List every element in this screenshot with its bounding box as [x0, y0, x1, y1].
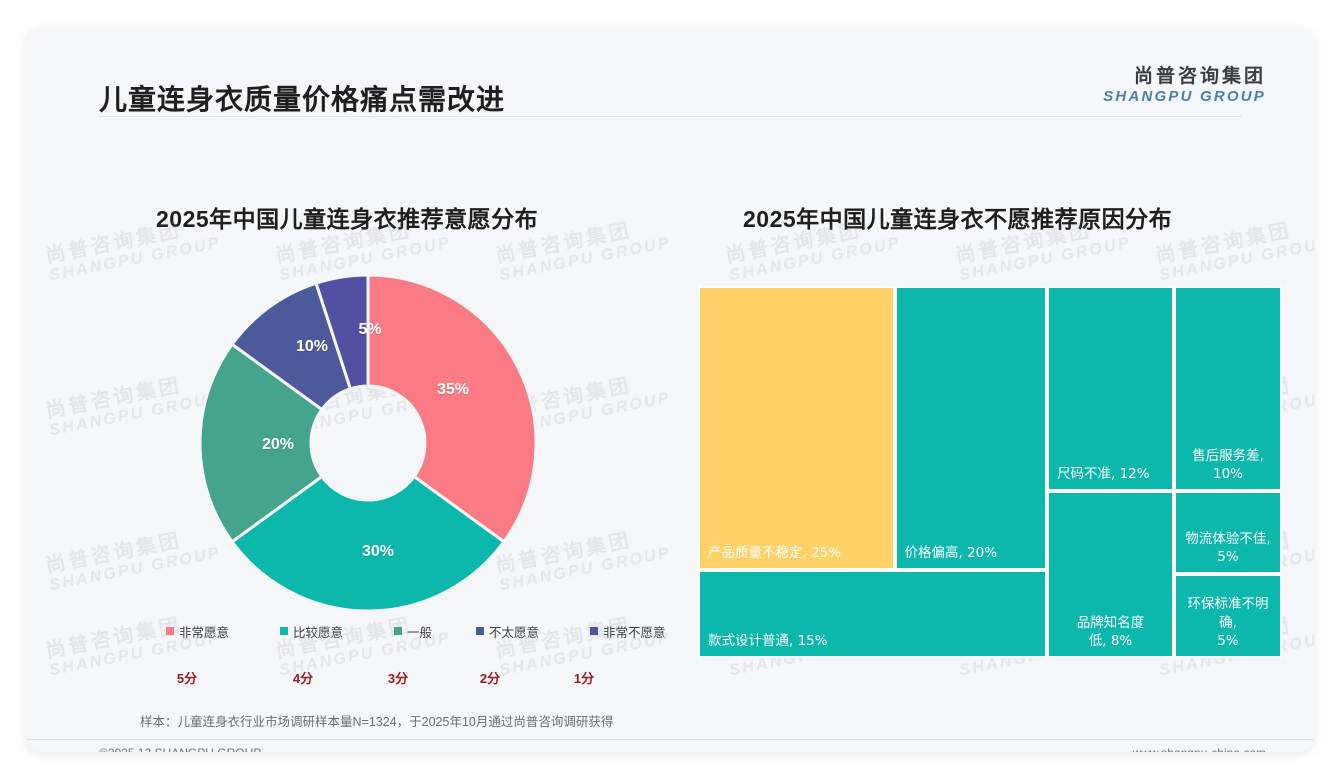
legend-label: 一般 [407, 622, 432, 641]
legend-swatch [394, 627, 402, 635]
page-title: 儿童连身衣质量价格痛点需改进 [99, 78, 505, 118]
donut-slice-value: 20% [262, 436, 294, 454]
treemap-tile[interactable]: 尺码不准, 12% [1047, 286, 1174, 491]
score-label: 1分 [574, 668, 594, 687]
watermark-text: 尚普咨询集团SHANGPU GROUP [44, 368, 223, 440]
legend-swatch [280, 627, 288, 635]
treemap-tile[interactable]: 款式设计普通, 15% [698, 570, 1047, 658]
treemap-tile-label: 款式设计普通, 15% [708, 632, 1039, 650]
copyright-text: ©2025.12 SHANGPU GROUP [99, 746, 261, 752]
legend-item[interactable]: 非常不愿意 [590, 622, 666, 641]
treemap-tile[interactable]: 物流体验不佳,5% [1174, 491, 1282, 574]
legend-item[interactable]: 不太愿意 [476, 622, 539, 641]
legend-label: 非常不愿意 [603, 622, 666, 641]
treemap-tile[interactable]: 价格偏高, 20% [895, 286, 1048, 570]
treemap-tile[interactable]: 环保标准不明确,5% [1174, 574, 1282, 658]
score-label: 2分 [480, 668, 500, 687]
legend-label: 比较愿意 [293, 622, 343, 641]
legend-item[interactable]: 比较愿意 [280, 622, 343, 641]
legend-item[interactable]: 一般 [394, 622, 432, 641]
legend-swatch [476, 627, 484, 635]
slide-canvas: 儿童连身衣质量价格痛点需改进 尚普咨询集团 SHANGPU GROUP 尚普咨询… [26, 28, 1314, 752]
treemap-tile-label: 售后服务差,10% [1180, 447, 1276, 483]
score-label: 3分 [388, 668, 408, 687]
reasons-treemap-chart: 产品质量不稳定, 25%价格偏高, 20%款式设计普通, 15%尺码不准, 12… [698, 286, 1282, 658]
watermark-text: 尚普咨询集团SHANGPU GROUP [1154, 213, 1314, 285]
treemap-tile-label: 产品质量不稳定, 25% [708, 544, 887, 562]
treemap-tile[interactable]: 售后服务差,10% [1174, 286, 1282, 491]
donut-slice-value: 30% [362, 543, 394, 561]
treemap-tile[interactable]: 品牌知名度低, 8% [1047, 491, 1174, 658]
footer-divider [26, 739, 1314, 740]
treemap-tile-label: 尺码不准, 12% [1057, 465, 1166, 483]
logo-english-text: SHANGPU GROUP [1103, 88, 1266, 105]
header-divider [99, 116, 1242, 117]
treemap-tile-label: 物流体验不佳,5% [1180, 530, 1276, 566]
right-chart-title: 2025年中国儿童连身衣不愿推荐原因分布 [743, 200, 1172, 234]
donut-slice-value: 10% [296, 338, 328, 356]
left-chart-title: 2025年中国儿童连身衣推荐意愿分布 [156, 200, 538, 234]
treemap-tile[interactable]: 产品质量不稳定, 25% [698, 286, 895, 570]
legend-swatch [166, 627, 174, 635]
donut-slice-value: 5% [358, 321, 381, 339]
legend-item[interactable]: 非常愿意 [166, 622, 229, 641]
treemap-tile-label: 价格偏高, 20% [905, 544, 1040, 562]
brand-logo: 尚普咨询集团 SHANGPU GROUP [1103, 66, 1266, 105]
legend-swatch [590, 627, 598, 635]
legend-label: 非常愿意 [179, 622, 229, 641]
recommendation-donut-chart: 35%30%20%10%5% [200, 275, 536, 611]
score-label: 5分 [177, 668, 197, 687]
donut-slice-value: 35% [437, 381, 469, 399]
watermark-text: 尚普咨询集团SHANGPU GROUP [44, 523, 223, 595]
legend-label: 不太愿意 [489, 622, 539, 641]
score-label: 4分 [293, 668, 313, 687]
treemap-tile-label: 环保标准不明确,5% [1180, 595, 1276, 650]
website-url: www.shangpu-china.com [1133, 746, 1266, 752]
treemap-tile-label: 品牌知名度低, 8% [1053, 614, 1168, 650]
slide-header: 儿童连身衣质量价格痛点需改进 尚普咨询集团 SHANGPU GROUP [26, 28, 1314, 116]
logo-chinese-text: 尚普咨询集团 [1103, 66, 1266, 88]
sample-footnote: 样本：儿童连身衣行业市场调研样本量N=1324，于2025年10月通过尚普咨询调… [140, 711, 613, 730]
